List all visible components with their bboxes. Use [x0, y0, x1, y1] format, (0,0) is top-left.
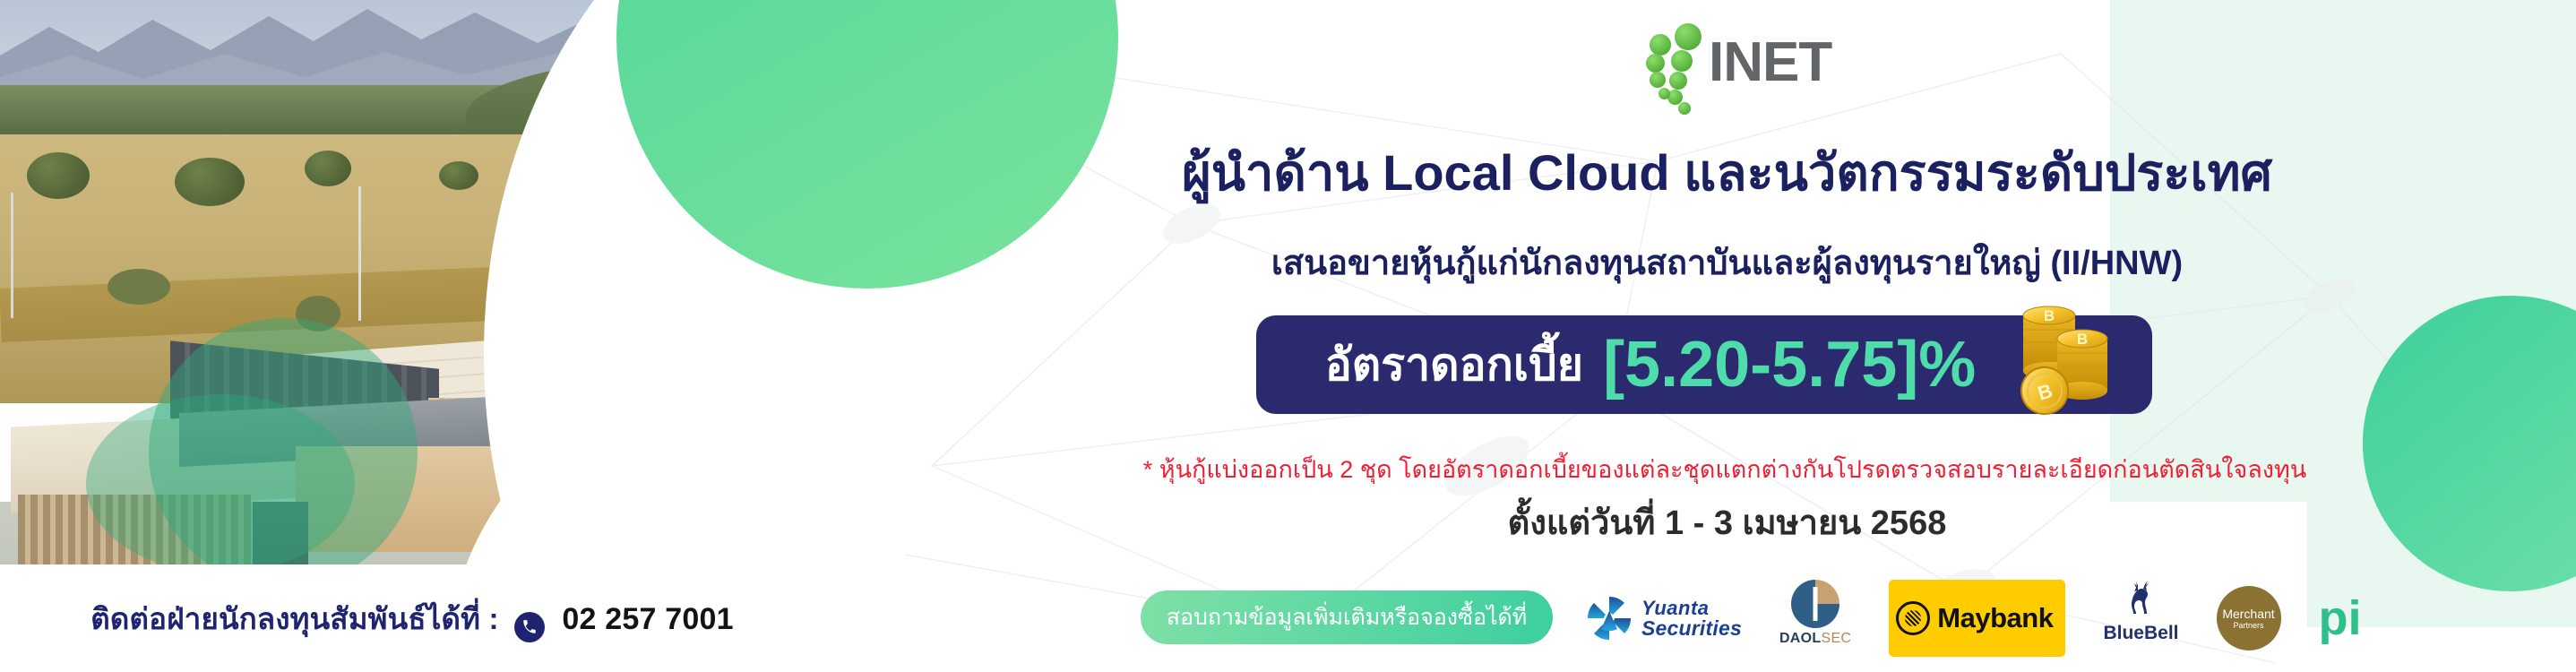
headline: ผู้นำด้าน Local Cloud และนวัตกรรมระดับปร… [878, 133, 2576, 212]
bluebell-deer-icon [2120, 580, 2161, 621]
subheadline: เสนอขายหุ้นกู้แก่นักลงทุนสถาบันและผู้ลงท… [878, 235, 2576, 289]
enquiry-cta-label: สอบถามข้อมูลเพิ่มเติมหรือจองซื้อได้ที่ [1167, 599, 1528, 635]
inet-logo: INET [1644, 20, 1831, 106]
interest-rate-block: อัตราดอกเบี้ย [5.20-5.75]% [1256, 315, 2188, 414]
contact-label: ติดต่อฝ่ายนักลงทุนสัมพันธ์ได้ที่ : [90, 602, 498, 635]
yuanta-wordmark: Yuanta Securities [1641, 599, 1742, 639]
inet-bond-banner: ติดต่อฝ่ายนักลงทุนสัมพันธ์ได้ที่ : 02 25… [0, 0, 2576, 672]
merchant-line2: Partners [2233, 621, 2263, 630]
inet-wordmark: INET [1709, 35, 1831, 90]
daol-wordmark: DAOLSEC [1779, 631, 1851, 647]
disclaimer-text: * หุ้นกู้แบ่งออกเป็น 2 ชุด โดยอัตราดอกเบ… [636, 450, 2576, 488]
yuanta-line2: Securities [1641, 618, 1742, 639]
interest-rate-label: อัตราดอกเบี้ย [1325, 330, 1583, 401]
bluebell-wordmark: BlueBell [2103, 623, 2178, 644]
interest-rate-value: [5.20-5.75]% [1603, 332, 1976, 397]
merchant-circle-icon: Merchant Partners [2217, 586, 2281, 650]
daol-pie-icon [1791, 580, 1839, 628]
phone-number[interactable]: 02 257 7001 [562, 602, 733, 636]
maybank-wordmark: Maybank [1937, 602, 2053, 634]
merchant-line1: Merchant [2222, 607, 2274, 621]
contact-line: ติดต่อฝ่ายนักลงทุนสัมพันธ์ได้ที่ : 02 25… [90, 595, 733, 642]
gold-coin-stack-icon: B B [2011, 290, 2145, 425]
svg-text:B: B [2077, 331, 2088, 348]
daol-line2: SEC [1821, 631, 1851, 646]
offer-period: ตั้งแต่วันที่ 1 - 3 เมษายน 2568 [878, 495, 2576, 549]
content-column: INET ผู้นำด้าน Local Cloud และนวัตกรรมระ… [878, 0, 2576, 672]
partner-yuanta[interactable]: Yuanta Securities [1586, 580, 1742, 657]
partner-pi[interactable]: pi [2319, 580, 2362, 657]
partner-bluebell[interactable]: BlueBell [2103, 580, 2178, 657]
investor-relations-contact-card: ติดต่อฝ่ายนักลงทุนสัมพันธ์ได้ที่ : 02 25… [0, 564, 860, 672]
maybank-tiger-icon [1896, 601, 1930, 635]
yuanta-star-icon [1586, 595, 1633, 642]
daol-line1: DAOL [1779, 631, 1822, 646]
partner-maybank[interactable]: Maybank [1889, 580, 2065, 657]
partner-daol[interactable]: DAOLSEC [1779, 580, 1851, 657]
inet-dots-logo-icon [1644, 20, 1712, 106]
enquiry-cta-button[interactable]: สอบถามข้อมูลเพิ่มเติมหรือจองซื้อได้ที่ [1141, 590, 1553, 644]
pi-wordmark-icon: pi [2319, 597, 2362, 641]
partner-logos: Yuanta Securities DAOLSEC Maybank [1586, 578, 2362, 659]
svg-text:B: B [2044, 307, 2055, 324]
yuanta-line1: Yuanta [1641, 599, 1742, 618]
partner-merchant[interactable]: Merchant Partners [2217, 580, 2281, 657]
phone-icon [514, 612, 545, 642]
